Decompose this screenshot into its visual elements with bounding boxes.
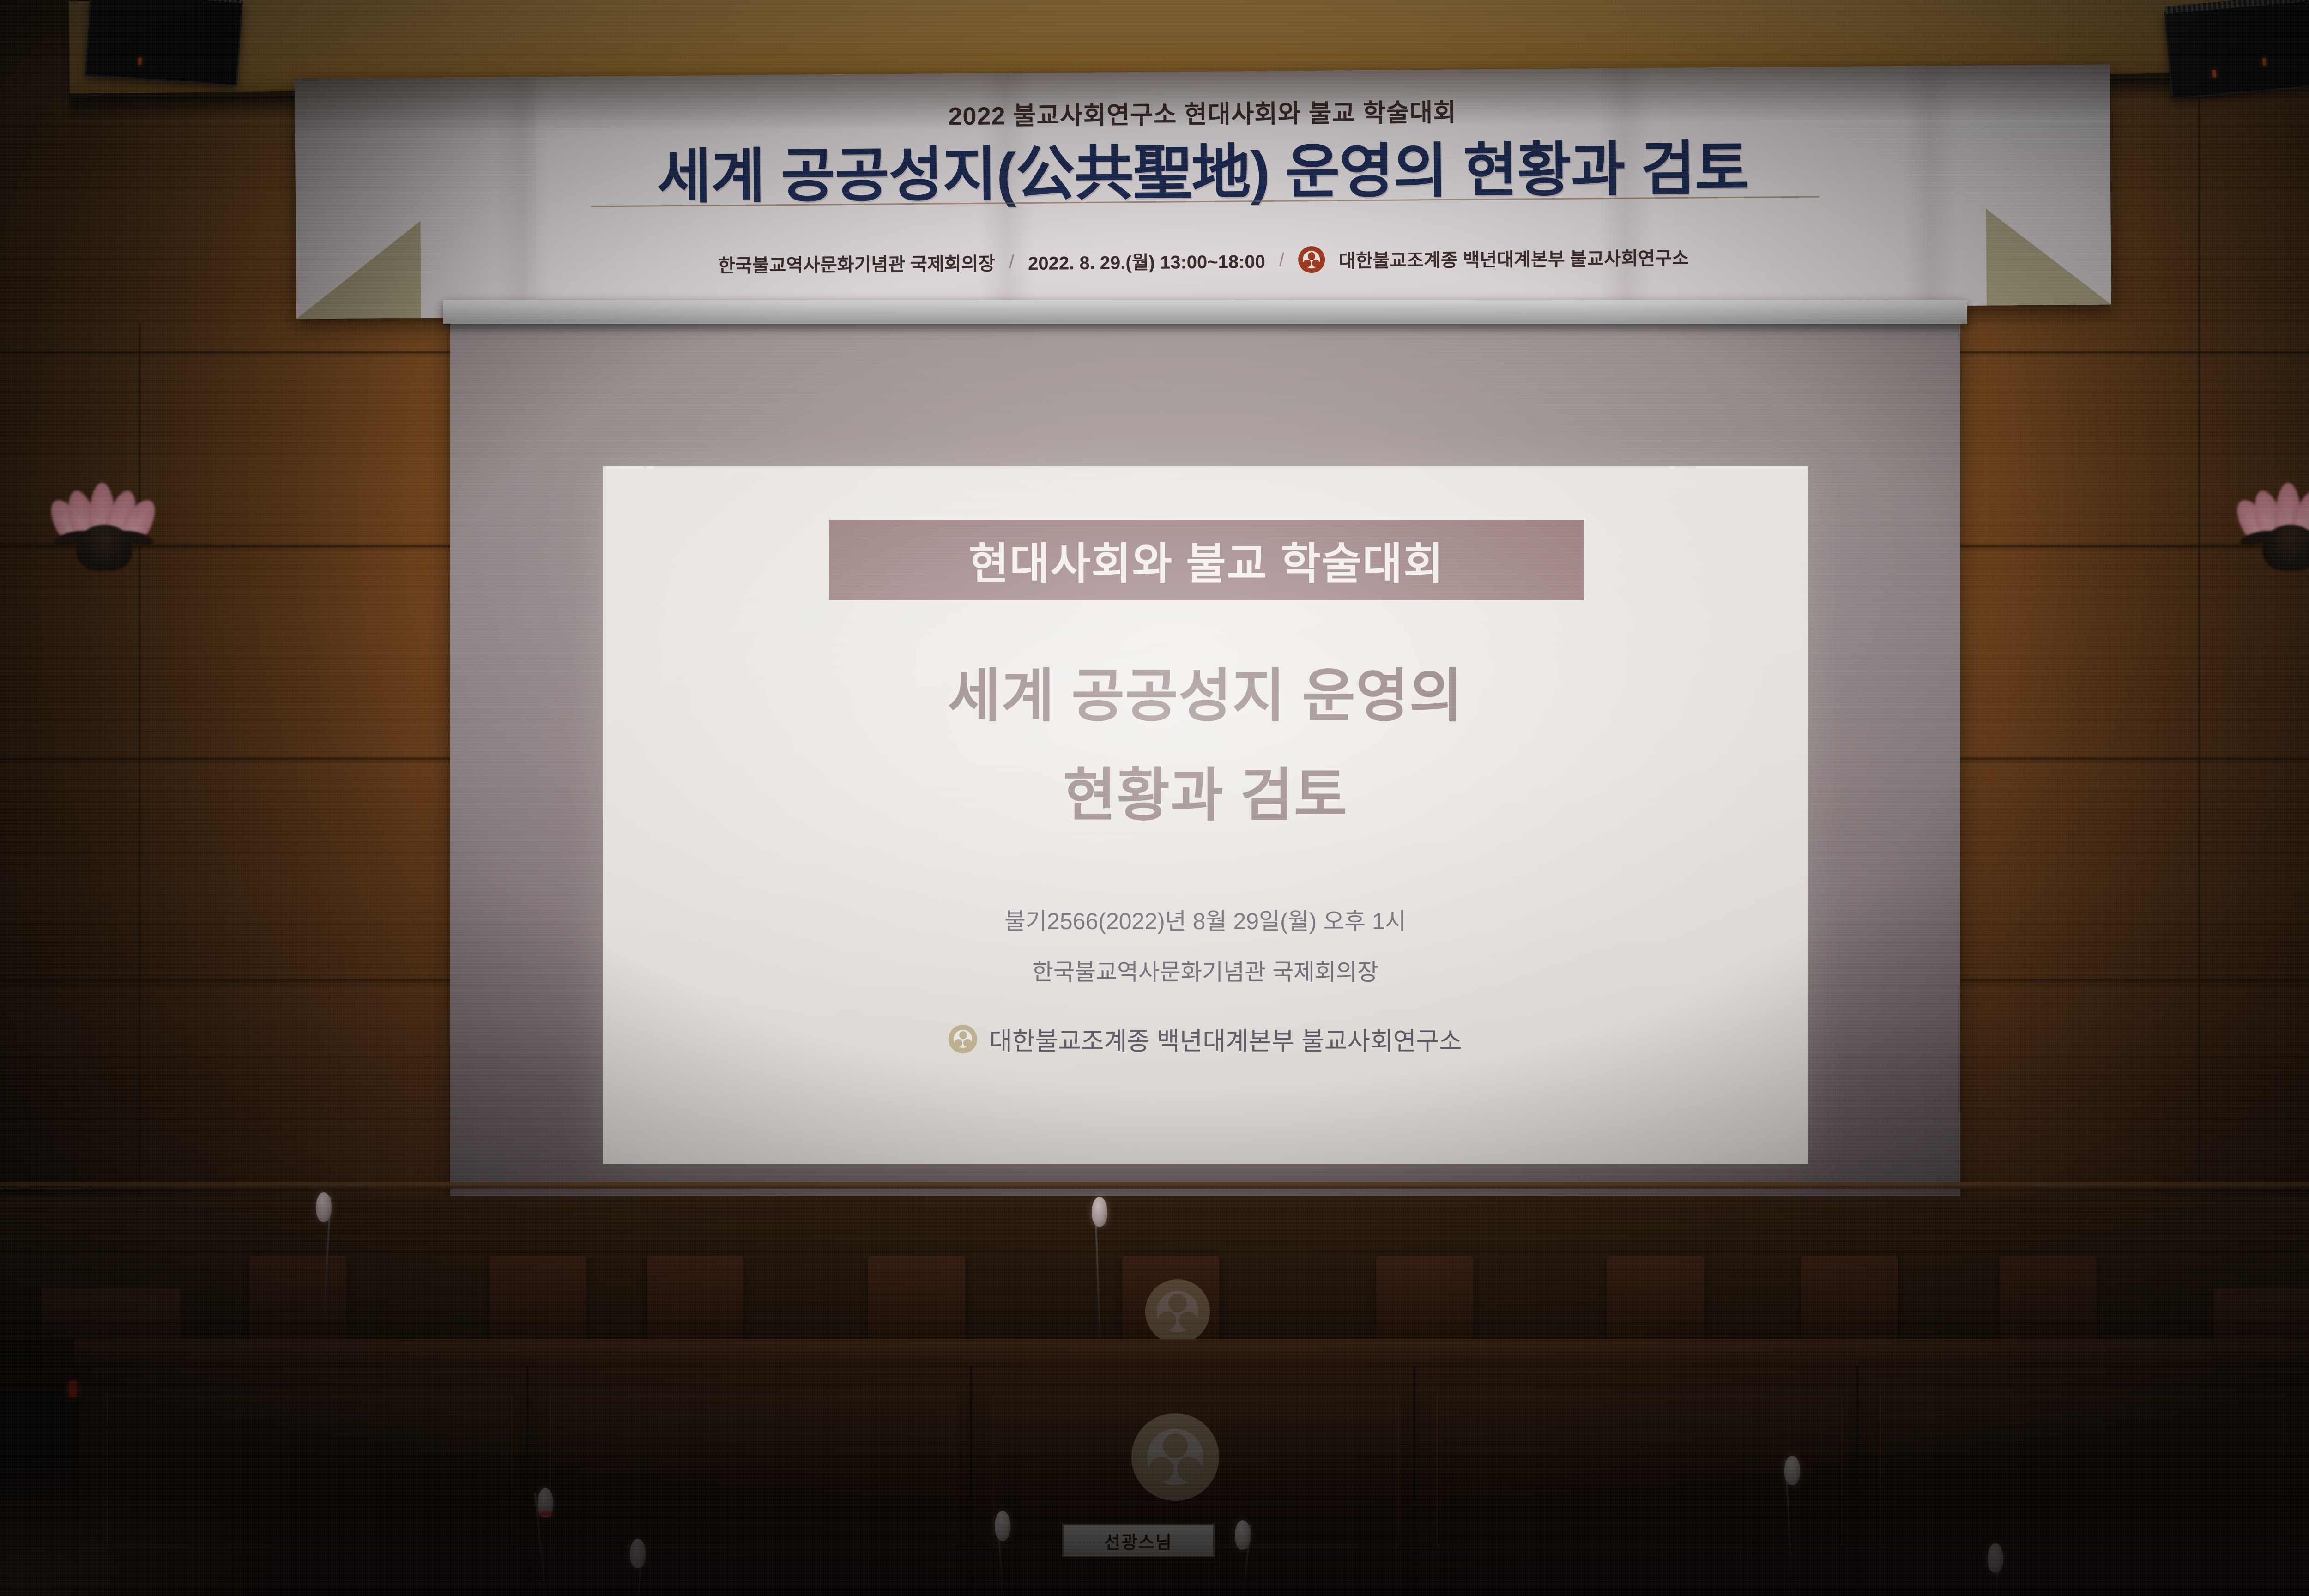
podium-jogye-emblem (1145, 1279, 1210, 1344)
microphone-head-icon (1988, 1543, 2003, 1573)
speaker-power-led (2262, 58, 2266, 66)
bench-panel (550, 1395, 956, 1547)
banner-separator: / (1279, 249, 1284, 270)
conference-hall-scene: 2022 불교사회연구소 현대사회와 불교 학술대회 세계 공공성지(公共聖地)… (0, 0, 2309, 1596)
jogye-order-emblem-icon (1298, 246, 1325, 273)
slide-organizer-text: 대한불교조계종 백년대계본부 불교사회연구소 (989, 1021, 1462, 1057)
slide-date-line: 불기2566(2022)년 8월 29일(월) 오후 1시 (603, 903, 1808, 936)
bench-divider (1856, 1362, 1859, 1596)
bench-divider (526, 1362, 529, 1596)
speaker-nameplate-text: 선광스님 (1104, 1528, 1173, 1554)
slide-venue-line: 한국불교역사문화기념관 국제회의장 (603, 954, 1808, 987)
projection-screen-housing (443, 300, 1967, 324)
floor-ambient-glow (0, 1444, 286, 1596)
slide-title-line-1: 세계 공공성지 운영의 (603, 649, 1808, 732)
jogye-order-emblem-icon (1145, 1279, 1210, 1344)
stage-indicator-light (69, 1381, 77, 1396)
bench-panel (1436, 1395, 1843, 1547)
microphone-mute-led (539, 1512, 551, 1516)
microphone-head-icon (630, 1539, 646, 1568)
microphone-head-icon (1235, 1520, 1251, 1550)
banner-headline: 세계 공공성지(公共聖地) 운영의 현황과 검토 (295, 118, 2110, 218)
bench-divider (970, 1362, 972, 1596)
lotus-wall-lamp-left (51, 480, 157, 573)
jogye-order-emblem-icon (1131, 1413, 1219, 1501)
microphone-head-icon (1092, 1197, 1107, 1227)
lotus-wall-lamp-right (2237, 480, 2309, 573)
bench-panel (1880, 1395, 2286, 1547)
speaker-power-led (2212, 70, 2216, 78)
speaker-grill-icon (92, 0, 242, 3)
microphone-head-icon (995, 1511, 1010, 1541)
banner-left-shading (295, 77, 537, 319)
slide-organizer-line: 대한불교조계종 백년대계본부 불교사회연구소 (603, 1021, 1808, 1057)
projected-slide: 현대사회와 불교 학술대회 세계 공공성지 운영의 현황과 검토 불기2566(… (603, 466, 1808, 1164)
bench-jogye-emblem (1131, 1413, 1219, 1501)
speaker-nameplate: 선광스님 (1062, 1524, 1215, 1557)
ceiling-speaker-right (2164, 0, 2309, 99)
stage-wall-rail (0, 1182, 2309, 1189)
banner-footer-line: 한국불교역사문화기념관 국제회의장 / 2022. 8. 29.(월) 13:0… (296, 240, 2111, 281)
banner-venue: 한국불교역사문화기념관 국제회의장 (718, 249, 995, 278)
slide-title-line-2: 현황과 검토 (603, 748, 1808, 832)
slide-ribbon-text: 현대사회와 불교 학술대회 (969, 529, 1445, 592)
banner-datetime: 2022. 8. 29.(월) 13:00~18:00 (1028, 247, 1265, 275)
jogye-order-emblem-icon (949, 1025, 977, 1053)
slide-ribbon-banner: 현대사회와 불교 학술대회 (829, 520, 1584, 600)
microphone-head-icon (316, 1192, 332, 1222)
speaker-bench-top (74, 1339, 2309, 1366)
lamp-base (77, 525, 132, 571)
microphone-head-icon (1784, 1456, 1800, 1485)
bench-divider (1413, 1362, 1415, 1596)
ceiling-speaker-left (85, 0, 243, 86)
event-banner: 2022 불교사회연구소 현대사회와 불교 학술대회 세계 공공성지(公共聖地)… (295, 65, 2111, 319)
speaker-power-led (138, 57, 142, 65)
